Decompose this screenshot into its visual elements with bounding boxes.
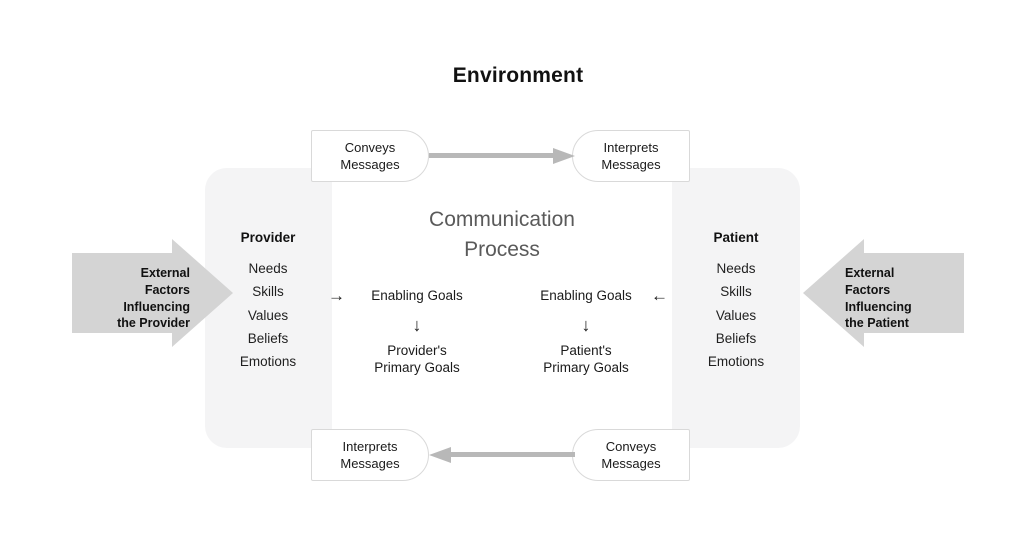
conveys-messages-patient-box: Conveys Messages bbox=[572, 429, 690, 481]
provider-attribute: Needs bbox=[203, 257, 333, 280]
communication-process-title: Communication Process bbox=[382, 205, 622, 265]
right-arrow-icon: → bbox=[328, 286, 345, 306]
interprets-messages-provider-box: Interprets Messages bbox=[311, 429, 429, 481]
down-arrow-icon: ↓ bbox=[516, 310, 656, 340]
provider-primary-goals: Provider's Primary Goals bbox=[347, 342, 487, 376]
top-message-flow-arrow bbox=[429, 148, 575, 164]
patient-attribute: Beliefs bbox=[671, 327, 801, 350]
patient-primary-goals: Patient's Primary Goals bbox=[516, 342, 656, 376]
right-arrow-icon bbox=[429, 148, 575, 164]
patient-attribute: Needs bbox=[671, 257, 801, 280]
left-arrow-icon bbox=[429, 447, 575, 463]
provider-enabling-goals: Enabling Goals bbox=[347, 288, 487, 304]
patient-attribute: Skills bbox=[671, 280, 801, 303]
provider-title: Provider bbox=[203, 230, 333, 245]
patient-title: Patient bbox=[671, 230, 801, 245]
patient-attribute: Emotions bbox=[671, 350, 801, 373]
provider-attribute: Skills bbox=[203, 280, 333, 303]
page-title: Environment bbox=[0, 64, 1036, 88]
diagram-canvas: Environment External Factors Influencing… bbox=[0, 0, 1036, 548]
provider-attribute: Beliefs bbox=[203, 327, 333, 350]
provider-attribute: Values bbox=[203, 304, 333, 327]
patient-column: Patient Needs Skills Values Beliefs Emot… bbox=[671, 230, 801, 373]
interprets-messages-patient-box: Interprets Messages bbox=[572, 130, 690, 182]
external-factors-provider-label: External Factors Influencing the Provide… bbox=[72, 265, 190, 332]
provider-attribute: Emotions bbox=[203, 350, 333, 373]
conveys-messages-provider-box: Conveys Messages bbox=[311, 130, 429, 182]
bottom-message-flow-arrow bbox=[429, 447, 575, 463]
patient-attribute: Values bbox=[671, 304, 801, 327]
patient-enabling-goals: Enabling Goals bbox=[516, 288, 656, 304]
provider-column: Provider Needs Skills Values Beliefs Emo… bbox=[203, 230, 333, 373]
external-factors-patient-arrow: External Factors Influencing the Patient bbox=[803, 239, 964, 347]
patient-goals: Enabling Goals ↓ Patient's Primary Goals bbox=[516, 288, 656, 376]
provider-goals: Enabling Goals ↓ Provider's Primary Goal… bbox=[347, 288, 487, 376]
external-factors-patient-label: External Factors Influencing the Patient bbox=[845, 265, 964, 332]
down-arrow-icon: ↓ bbox=[347, 310, 487, 340]
